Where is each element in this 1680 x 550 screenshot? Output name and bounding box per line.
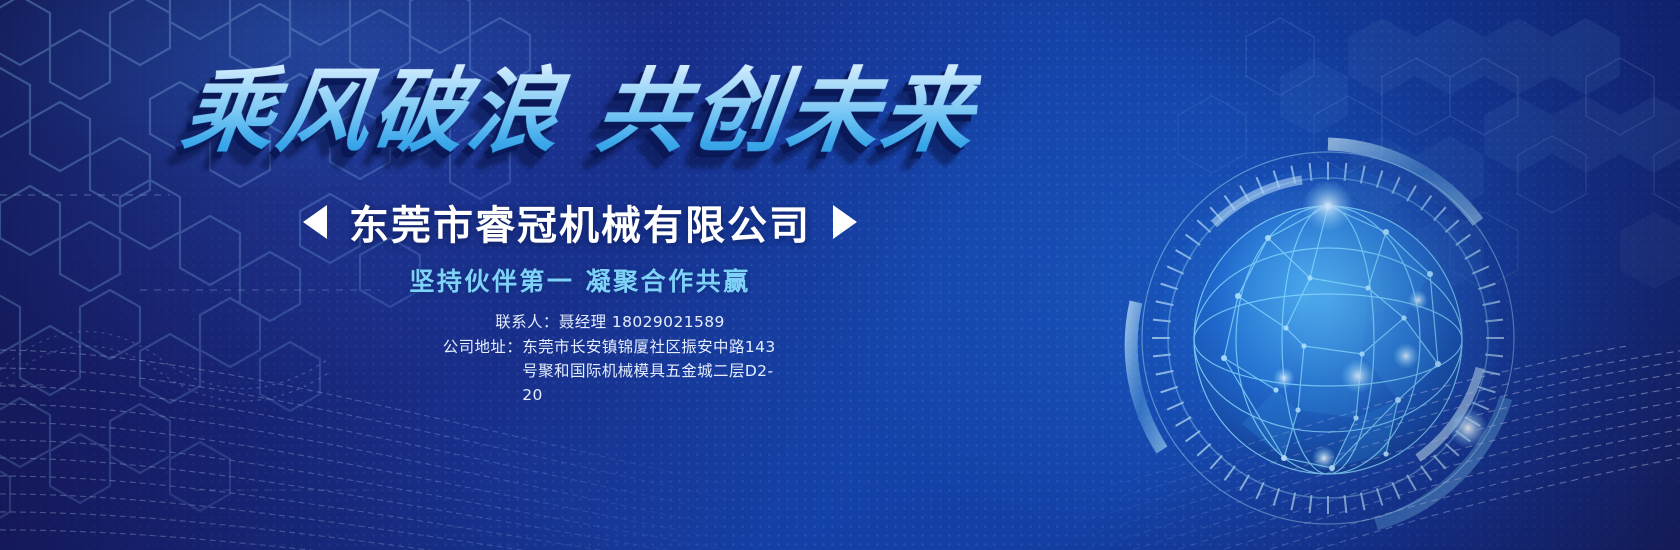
contact-person-value: 聂经理 18029021589 bbox=[559, 310, 725, 334]
company-name: 东莞市睿冠机械有限公司 bbox=[349, 193, 811, 251]
contact-address-value: 东莞市长安镇锦厦社区振安中路143号聚和国际机械模具五金城二层D2-20 bbox=[522, 335, 777, 407]
headline-text: 乘风破浪共创未来 bbox=[177, 62, 983, 161]
left-triangle-icon bbox=[303, 205, 327, 239]
headline-part-2: 共创未来 bbox=[590, 58, 983, 165]
company-name-row: 东莞市睿冠机械有限公司 bbox=[0, 193, 1160, 251]
slogan-text: 坚持伙伴第一 凝聚合作共赢 bbox=[0, 262, 1160, 298]
right-triangle-icon bbox=[833, 205, 857, 239]
contact-person-line: 联系人： 聂经理 18029021589 bbox=[300, 310, 920, 334]
headline-block: 乘风破浪共创未来 bbox=[0, 62, 1160, 161]
contact-address-line: 公司地址： 东莞市长安镇锦厦社区振安中路143号聚和国际机械模具五金城二层D2-… bbox=[300, 335, 920, 407]
contact-person-label: 联系人： bbox=[495, 310, 559, 334]
contact-block: 联系人： 聂经理 18029021589 公司地址： 东莞市长安镇锦厦社区振安中… bbox=[300, 310, 920, 407]
contact-address-label: 公司地址： bbox=[443, 335, 523, 359]
headline-part-1: 乘风破浪 bbox=[176, 58, 569, 165]
wave-lines-bottom-right bbox=[1060, 346, 1680, 550]
promo-banner: 乘风破浪共创未来 东莞市睿冠机械有限公司 坚持伙伴第一 凝聚合作共赢 联系人： … bbox=[0, 0, 1680, 550]
